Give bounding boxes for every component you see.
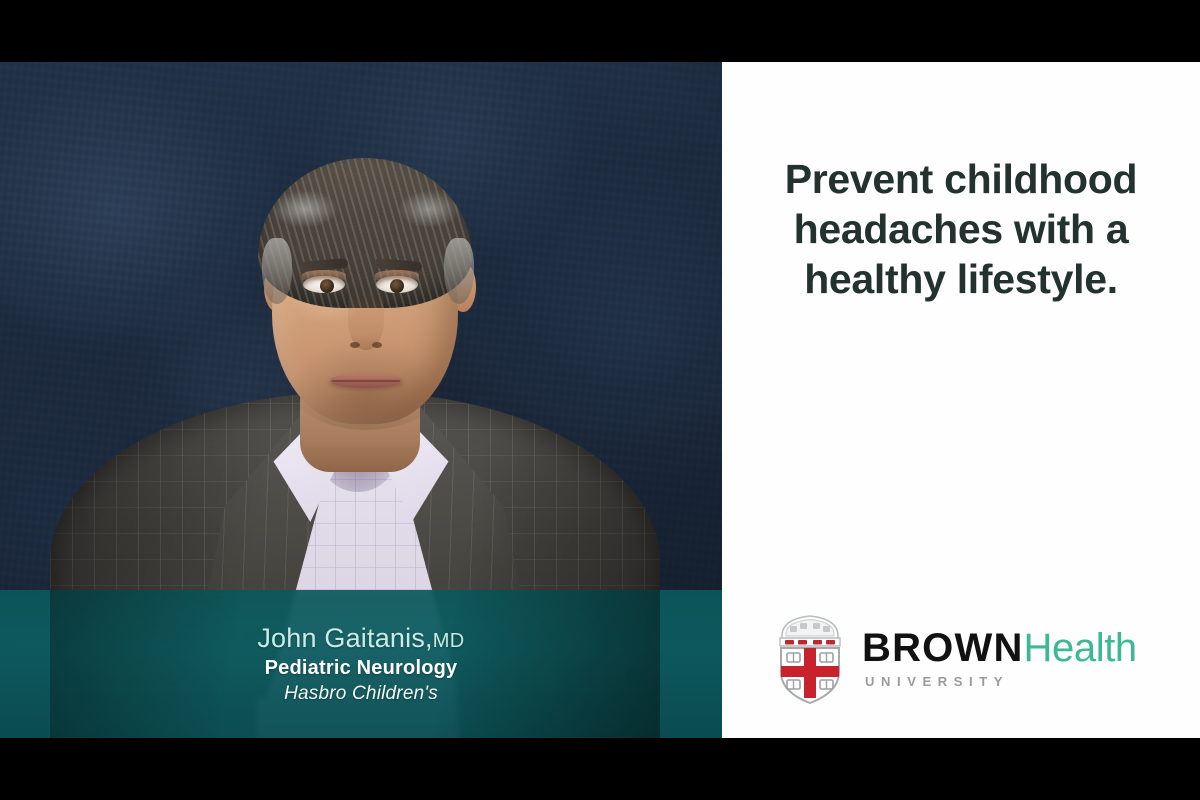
speaker-portrait <box>0 62 722 738</box>
iris-left <box>320 279 334 293</box>
nostril-right <box>372 342 382 348</box>
info-panel: Prevent childhood headaches with a healt… <box>722 62 1200 738</box>
suit-jacket <box>50 392 660 738</box>
brand-health: Health <box>1024 628 1137 668</box>
brand-brown: BROWN <box>862 628 1024 668</box>
nose <box>348 288 384 350</box>
mouth-line <box>332 380 400 382</box>
eyelid-right <box>375 270 419 280</box>
brand-lockup: BROWNHealth UNIVERSITY <box>772 610 1137 706</box>
brand-text: BROWNHealth UNIVERSITY <box>862 628 1137 689</box>
portrait-pane: John Gaitanis,MD Pediatric Neurology Has… <box>0 62 722 738</box>
headline-text: Prevent childhood headaches with a healt… <box>761 154 1161 304</box>
nostril-left <box>350 342 360 348</box>
video-thumbnail: John Gaitanis,MD Pediatric Neurology Has… <box>0 0 1200 800</box>
eyelid-left <box>302 270 346 280</box>
iris-right <box>390 279 404 293</box>
brown-university-shield-icon <box>772 610 848 706</box>
brand-university: UNIVERSITY <box>865 674 1137 689</box>
video-frame: John Gaitanis,MD Pediatric Neurology Has… <box>0 62 1200 738</box>
brand-wordmark: BROWNHealth <box>862 628 1137 668</box>
temple-gray-right <box>444 238 474 304</box>
temple-gray-left <box>262 238 292 304</box>
